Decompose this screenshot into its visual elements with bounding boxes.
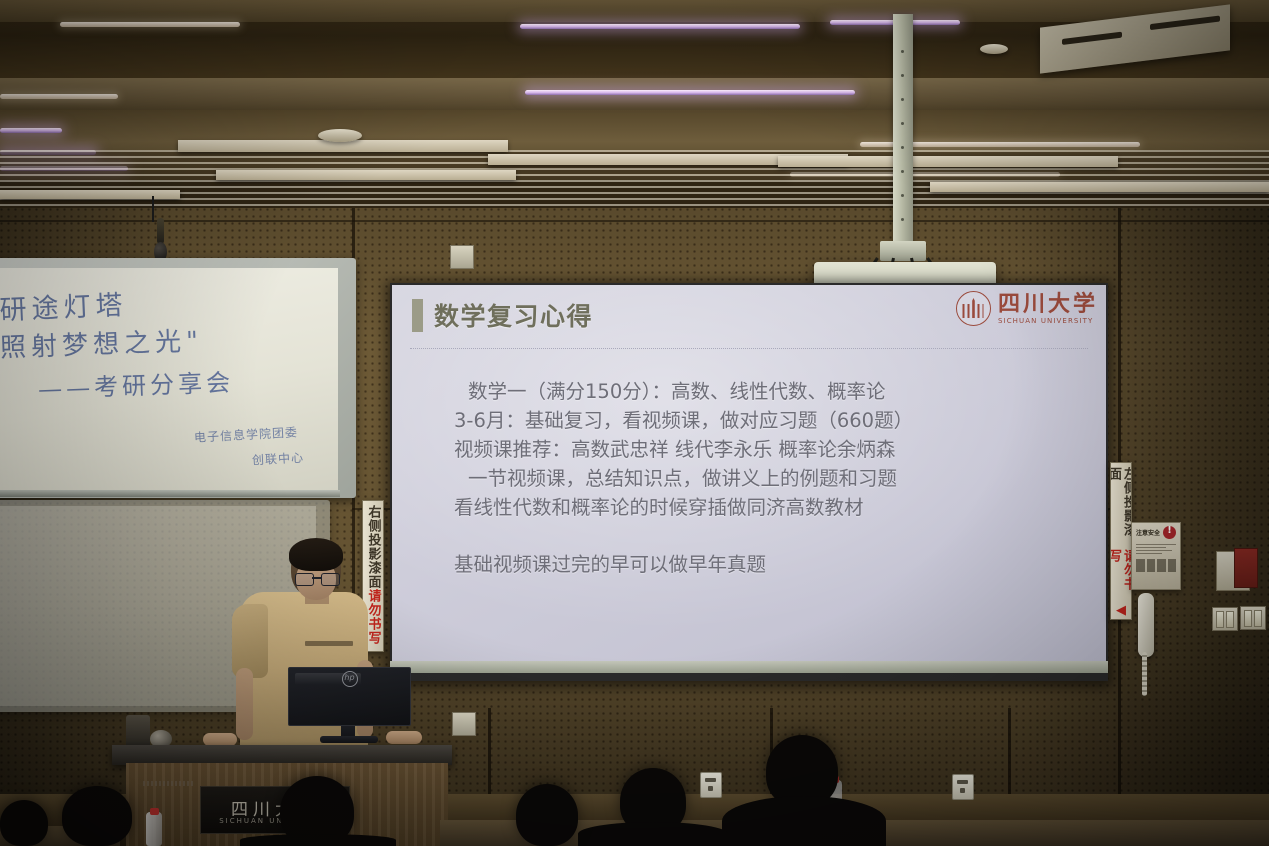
light-switch-panel[interactable] — [1240, 606, 1266, 630]
presenter-hand-right — [386, 731, 422, 744]
screen-bottom-rail: ❯ — [390, 661, 1108, 673]
presenter-sleeve — [232, 604, 268, 678]
phone-cord — [1142, 652, 1147, 696]
ceiling-light-tube — [0, 94, 118, 99]
slide-line: 数学一（满分150分）：高数、线性代数、概率论 — [454, 377, 1054, 406]
shirt-print — [305, 641, 353, 646]
ceiling-light-tube — [520, 24, 800, 29]
slide-line: 基础视频课过完的早可以做早年真题 — [454, 550, 1054, 579]
arrow-left-icon: ◀ — [1114, 603, 1129, 619]
ceiling-speaker-icon — [980, 44, 1008, 54]
ceiling-light-tube — [0, 128, 62, 133]
microphone-body — [157, 218, 164, 244]
slide-line: 一节视频课，总结知识点，做讲义上的例题和习题 — [454, 464, 1054, 493]
whiteboard-surface: "研途灯塔 照射梦想之光" ——考研分享会 电子信息学院团委 创联中心 — [0, 268, 338, 490]
wall-plate — [452, 712, 476, 736]
classroom-scene: "研途灯塔 照射梦想之光" ——考研分享会 电子信息学院团委 创联中心 EPSO… — [0, 0, 1269, 846]
whiteboard-line-2: 照射梦想之光" — [0, 320, 204, 364]
whiteboard-signature-1: 电子信息学院团委 — [194, 423, 299, 445]
podium-top — [112, 745, 452, 765]
slide-line: 视频课推荐：高数武忠祥 线代李永乐 概率论余炳森 — [454, 435, 1054, 464]
warning-icon — [1163, 526, 1176, 539]
power-outlet[interactable] — [952, 774, 974, 800]
monitor-base — [320, 736, 378, 743]
audience-head — [0, 800, 48, 846]
ceiling-light-tube — [525, 90, 855, 95]
glasses-icon — [295, 573, 338, 584]
whiteboard-line-1: "研途灯塔 — [0, 283, 128, 328]
university-name-en: SICHUAN UNIVERSITY — [998, 317, 1098, 325]
projected-slide: 数学复习心得 四川大学 SICHUAN UNIVERSITY 数学一（满分150… — [392, 285, 1106, 663]
microphone-cable — [152, 196, 154, 222]
whiteboard-signature-2: 创联中心 — [252, 449, 305, 469]
podium-device — [126, 715, 150, 749]
hp-logo-icon — [342, 671, 358, 687]
audience-shoulders — [578, 822, 728, 846]
ceiling-panel — [778, 156, 1118, 167]
projector-pole — [893, 14, 913, 246]
water-bottle — [146, 812, 162, 846]
audience-shoulders — [240, 834, 396, 846]
bottle-cap — [150, 808, 159, 815]
slide-header: 数学复习心得 — [412, 297, 593, 333]
slide-title: 数学复习心得 — [434, 297, 593, 333]
sign-left-projection-surface: 左侧投影漆面 请勿书写 ◀ — [1110, 462, 1132, 620]
ceiling-beam — [0, 0, 1269, 22]
ceiling-light-tube — [60, 22, 240, 27]
wall-phone[interactable] — [1138, 593, 1154, 657]
audience-head — [62, 786, 132, 846]
ceiling-panel — [216, 170, 516, 180]
slide-body: 数学一（满分150分）：高数、线性代数、概率论 3-6月：基础复习，看视频课，做… — [454, 377, 1054, 579]
slide-line: 看线性代数和概率论的时候穿插做同济高数教材 — [454, 493, 1054, 522]
university-seal-icon — [956, 291, 991, 326]
wall-plate — [450, 245, 474, 269]
podium-vent — [143, 781, 195, 786]
title-divider — [410, 348, 1088, 349]
power-outlet[interactable] — [700, 772, 722, 798]
smoke-detector-icon — [318, 129, 362, 142]
university-name-cn: 四川大学 — [998, 293, 1098, 315]
audience-shoulders — [722, 796, 886, 846]
sign-text-dark: 右侧投影漆面 — [366, 505, 381, 589]
safety-notice-sign: 注意安全 — [1131, 522, 1181, 590]
slide-line: 3-6月：基础复习，看视频课，做对应习题（660题） — [454, 406, 1054, 435]
audience-head — [516, 784, 578, 846]
ceiling-panel — [930, 182, 1269, 192]
presenter-arm-left — [236, 668, 253, 740]
whiteboard-tray — [0, 490, 340, 497]
title-accent-bar — [412, 299, 423, 332]
notice-title: 注意安全 — [1136, 528, 1160, 537]
whiteboard-line-3: ——考研分享会 — [37, 363, 234, 405]
presenter-hair — [289, 538, 343, 571]
wall-poster-red — [1234, 548, 1258, 588]
sign-text-red: 请勿书写 — [1110, 549, 1132, 603]
light-switch-panel[interactable] — [1212, 607, 1238, 631]
sign-text-dark: 左侧投影漆面 — [1110, 467, 1132, 549]
university-logo: 四川大学 SICHUAN UNIVERSITY — [956, 291, 1098, 326]
computer-monitor[interactable] — [288, 667, 411, 726]
